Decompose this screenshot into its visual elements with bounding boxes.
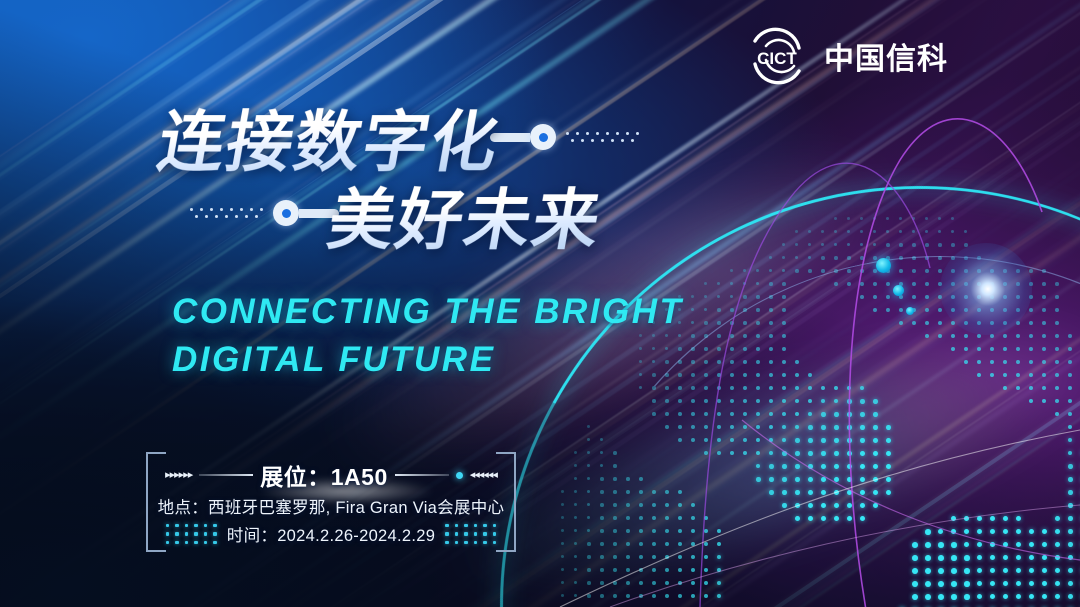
booth-number: 展位：1A50 — [260, 458, 387, 492]
arrows-right-icon: ◂◂◂◂◂◂ — [470, 470, 497, 481]
headline-line-2: 美好未来 — [322, 167, 611, 263]
dot-trail — [566, 132, 639, 142]
node-ring — [530, 124, 556, 150]
globe-light-node — [940, 243, 1032, 335]
floating-dot-large — [876, 258, 891, 273]
headline-node-decoration-left — [190, 200, 339, 226]
headline-row-2: 美好未来 — [0, 174, 720, 256]
floating-dot-medium — [893, 285, 904, 296]
event-location: 地点：西班牙巴塞罗那, Fira Gran Via会展中心 — [146, 494, 516, 518]
headline-row-1: 连接数字化 — [0, 96, 720, 178]
cict-wordmark: CICT — [757, 49, 797, 68]
headline-node-decoration-right — [490, 124, 639, 150]
node-ring — [273, 200, 299, 226]
rule-dot-icon — [456, 472, 463, 479]
rule-right — [395, 474, 449, 476]
subtitle-line-1: CONNECTING THE BRIGHT — [172, 288, 683, 336]
floating-dot-small — [906, 307, 914, 315]
time-row: 时间：2024.2.26-2024.2.29 — [146, 522, 516, 546]
node-core — [539, 133, 548, 142]
promo-banner: CICT 中国信科 连接数字化 — [0, 0, 1080, 607]
event-info-box: ▸▸▸▸▸▸ 展位：1A50 ◂◂◂◂◂◂ 地点：西班牙巴塞罗那, Fira G… — [146, 452, 516, 552]
cict-logo: CICT 中国信科 — [744, 26, 948, 86]
rule-left — [199, 474, 253, 476]
dot-grid-left — [166, 524, 217, 545]
booth-row: ▸▸▸▸▸▸ 展位：1A50 ◂◂◂◂◂◂ — [146, 458, 516, 492]
dot-grid-right — [445, 524, 496, 545]
subtitle-line-2: DIGITAL FUTURE — [172, 336, 683, 384]
event-date: 时间：2024.2.26-2024.2.29 — [227, 522, 435, 546]
arrows-left-icon: ▸▸▸▸▸▸ — [165, 470, 192, 481]
headline-block: 连接数字化 美好未来 — [0, 96, 720, 256]
english-subtitle: CONNECTING THE BRIGHT DIGITAL FUTURE — [172, 288, 683, 385]
node-core — [282, 209, 291, 218]
dot-trail — [190, 208, 263, 218]
company-name-cn: 中国信科 — [824, 34, 948, 78]
cict-logo-icon: CICT — [744, 26, 810, 86]
